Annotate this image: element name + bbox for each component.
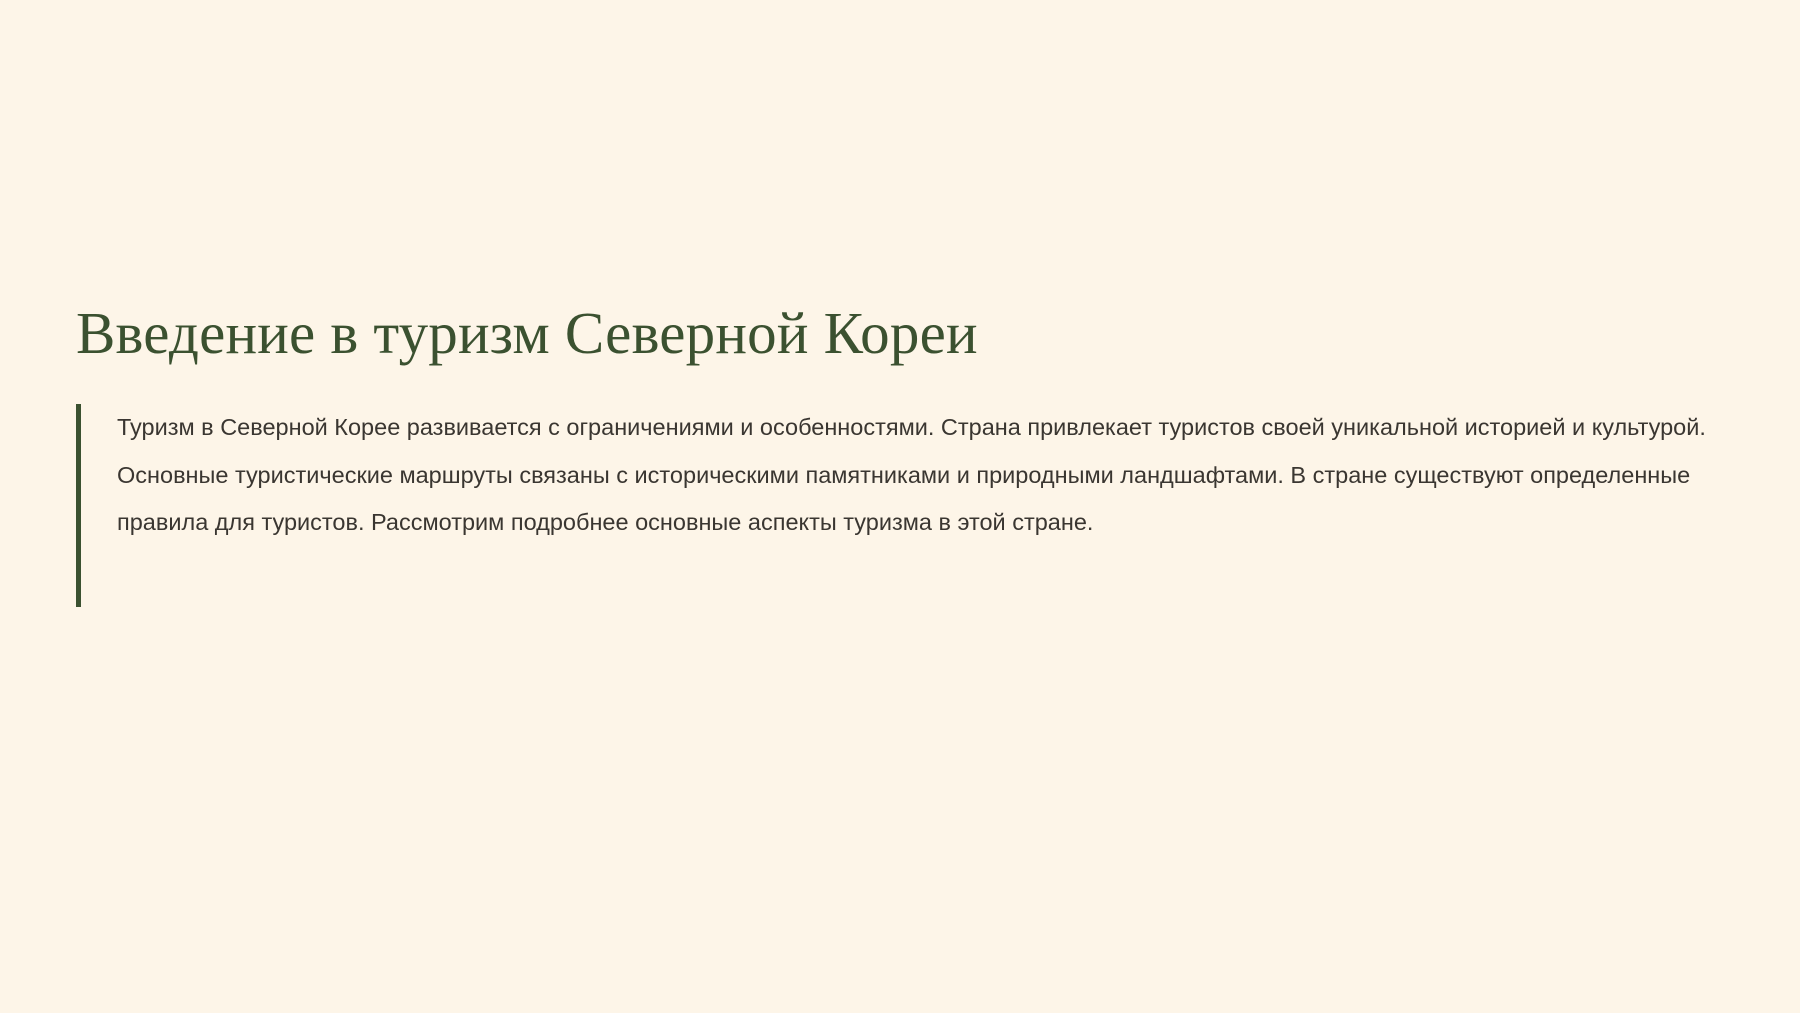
intro-blockquote: Туризм в Северной Корее развивается с ог… <box>76 404 1736 607</box>
article-page: Введение в туризм Северной Кореи Туризм … <box>0 0 1800 1013</box>
intro-paragraph: Туризм в Северной Корее развивается с ог… <box>117 404 1736 547</box>
accent-bar <box>76 404 81 607</box>
article-content: Введение в туризм Северной Кореи Туризм … <box>76 300 1736 607</box>
page-title: Введение в туризм Северной Кореи <box>76 300 1736 366</box>
